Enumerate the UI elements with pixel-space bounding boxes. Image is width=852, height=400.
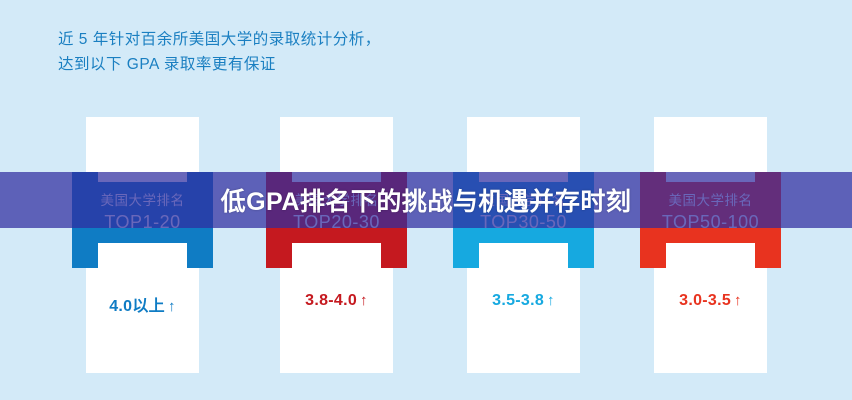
card-gpa-value: 3.5-3.8↑ <box>453 292 594 310</box>
up-arrow-icon: ↑ <box>168 298 176 315</box>
infographic-canvas: 近 5 年针对百余所美国大学的录取统计分析， 达到以下 GPA 录取率更有保证 … <box>0 0 852 400</box>
card-gpa-value: 3.0-3.5↑ <box>640 292 781 310</box>
gpa-card: 美国大学排名TOP1-204.0以上↑ <box>72 117 213 373</box>
card-gpa-value: 4.0以上↑ <box>72 292 213 316</box>
gpa-card: 美国大学排名TOP30-503.5-3.8↑ <box>453 117 594 373</box>
card-gpa-number: 3.8-4.0 <box>305 292 357 309</box>
card-gpa-number: 3.5-3.8 <box>492 292 544 309</box>
gpa-card: 美国大学排名TOP20-303.8-4.0↑ <box>266 117 407 373</box>
overlay-title-text: 低GPA排名下的挑战与机遇并存时刻 <box>221 182 632 218</box>
card-gpa-value: 3.8-4.0↑ <box>266 292 407 310</box>
gpa-card: 美国大学排名TOP50-1003.0-3.5↑ <box>640 117 781 373</box>
up-arrow-icon: ↑ <box>547 292 555 309</box>
overlay-title-band: 低GPA排名下的挑战与机遇并存时刻 <box>0 172 852 228</box>
card-gpa-number: 3.0-3.5 <box>679 292 731 309</box>
up-arrow-icon: ↑ <box>360 292 368 309</box>
card-gpa-number: 4.0以上 <box>109 298 165 315</box>
up-arrow-icon: ↑ <box>734 292 742 309</box>
